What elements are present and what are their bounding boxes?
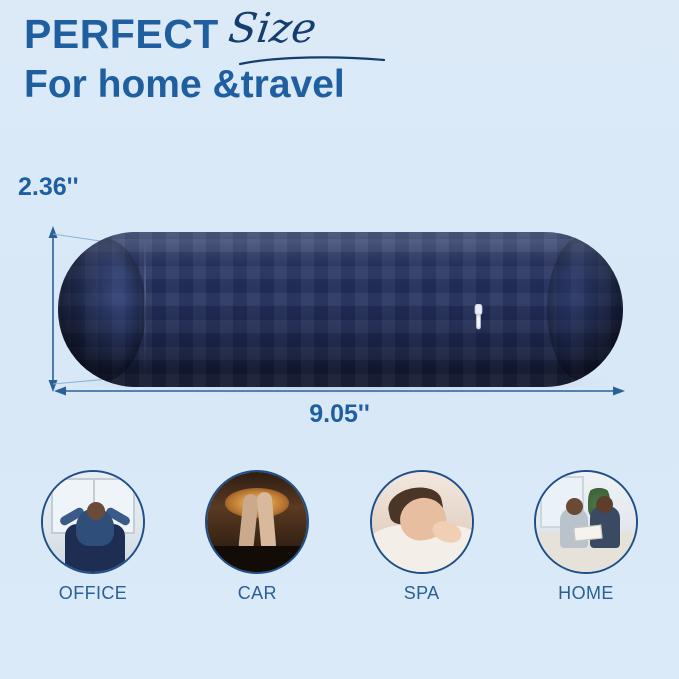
product-image xyxy=(58,232,623,387)
headline-size-script: Size xyxy=(226,8,319,49)
headline-row-2: For home &travel xyxy=(24,65,664,104)
usecase-row: OFFICE CAR xyxy=(0,470,679,604)
usecase-label-spa: SPA xyxy=(404,583,440,604)
height-dimension-label: 2.36'' xyxy=(18,173,79,202)
usecase-label-home: HOME xyxy=(558,583,614,604)
headline-size-underline xyxy=(238,55,388,69)
car-scene-icon xyxy=(205,470,309,574)
usecase-car: CAR xyxy=(202,470,312,604)
pillow-body xyxy=(58,232,623,387)
pillow-shading-overlay xyxy=(58,232,623,387)
usecase-label-office: OFFICE xyxy=(59,583,127,604)
usecase-home: HOME xyxy=(531,470,641,604)
office-scene-icon xyxy=(41,470,145,574)
product-infographic: PERFECT Size For home &travel 2.36'' 9.0… xyxy=(0,0,679,679)
home-scene-icon xyxy=(534,470,638,574)
usecase-office: OFFICE xyxy=(38,470,148,604)
usecase-spa: SPA xyxy=(367,470,477,604)
usecase-label-car: CAR xyxy=(238,583,277,604)
headline-perfect: PERFECT xyxy=(24,14,219,55)
headline-row-1: PERFECT Size xyxy=(24,14,664,55)
spa-scene-icon xyxy=(370,470,474,574)
zipper-icon xyxy=(466,304,492,332)
width-dimension-label: 9.05'' xyxy=(0,400,679,429)
